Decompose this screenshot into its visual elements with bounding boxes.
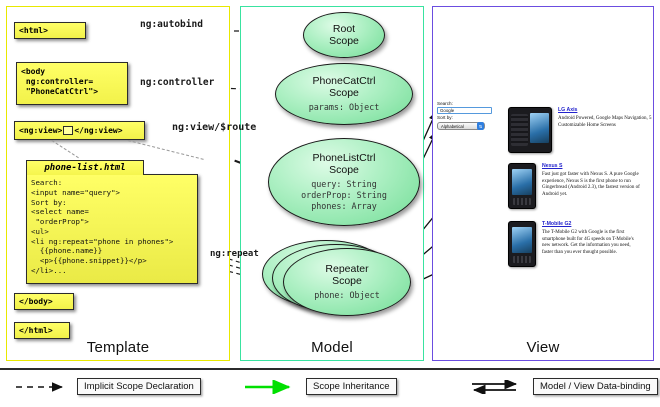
legend-item-implicit-scope: Implicit Scope Declaration (14, 378, 201, 395)
template-file-name: phone-list.html (26, 160, 144, 175)
scope-repeater-title: Repeater Scope (325, 263, 368, 287)
legend-item-scope-inheritance: Scope Inheritance (243, 378, 397, 395)
phone-name-link[interactable]: LG Axis (558, 107, 658, 114)
label-ng-view-route: ng:view/$route (172, 122, 256, 133)
scope-phonelistctrl-title: PhoneListCtrl Scope (312, 152, 375, 176)
label-ng-controller: ng:controller (140, 77, 214, 88)
label-ng-repeat: ng:repeat (210, 249, 259, 259)
panel-model-label: Model (241, 339, 423, 356)
tag-ngview: <ng:view> </ng:view> (14, 121, 145, 140)
scope-root-title: Root Scope (329, 23, 359, 47)
scope-phonecatctrl: PhoneCatCtrl Scope params: Object (275, 63, 413, 125)
phone-thumbnail-icon (508, 163, 536, 209)
phone-description: Android Powered, Google Maps Navigation,… (558, 116, 658, 130)
legend: Implicit Scope Declaration Scope Inherit… (0, 368, 660, 407)
ngview-close-text: </ng:view> (74, 126, 122, 136)
sort-select[interactable]: Alphabetical ⇅ (437, 122, 485, 130)
scope-phonecatctrl-title: PhoneCatCtrl Scope (312, 75, 375, 99)
legend-item-data-binding: Model / View Data-binding (470, 378, 658, 395)
phone-thumbnail-icon (508, 221, 536, 267)
scope-phonecatctrl-props: params: Object (309, 102, 380, 113)
scope-repeater-props: phone: Object (314, 290, 380, 301)
panel-template-label: Template (7, 339, 229, 356)
template-file-callout: phone-list.html Search: <input name="que… (26, 160, 198, 284)
view-controls: Search: Google Sort by: Alphabetical ⇅ (437, 101, 495, 130)
phone-list-item[interactable]: LG Axis Android Powered, Google Maps Nav… (508, 107, 658, 153)
phone-description: Fast just got faster with Nexus S. A pur… (542, 172, 642, 199)
chevron-updown-icon: ⇅ (477, 122, 484, 130)
legend-label: Implicit Scope Declaration (77, 378, 201, 395)
double-arrow-icon (470, 380, 526, 394)
ngview-placeholder-icon (63, 126, 73, 135)
sort-label: Sort by: (437, 115, 495, 121)
phone-name-link[interactable]: Nexus S (542, 163, 642, 170)
phone-list-item[interactable]: T-Mobile G2 The T-Mobile G2 with Google … (508, 221, 642, 267)
legend-label: Scope Inheritance (306, 378, 397, 395)
diagram-canvas: Template <html> <body ng:controller= "Ph… (0, 0, 660, 405)
phone-description: The T-Mobile G2 with Google is the first… (542, 230, 642, 257)
scope-root: Root Scope (303, 12, 385, 58)
label-ng-autobind: ng:autobind (140, 19, 203, 30)
ngview-open-text: <ng:view> (19, 126, 62, 136)
scope-phonelistctrl-props: query: String orderProp: String phones: … (301, 179, 387, 212)
tag-body-open: <body ng:controller= "PhoneCatCtrl"> (16, 62, 128, 105)
tag-html-open: <html> (14, 22, 86, 39)
sort-select-value: Alphabetical (441, 124, 464, 129)
search-input[interactable]: Google (437, 107, 492, 114)
phone-name-link[interactable]: T-Mobile G2 (542, 221, 642, 228)
phone-list-item[interactable]: Nexus S Fast just got faster with Nexus … (508, 163, 642, 209)
scope-repeater: Repeater Scope phone: Object (283, 248, 411, 316)
scope-phonelistctrl: PhoneListCtrl Scope query: String orderP… (268, 138, 420, 226)
panel-view-label: View (433, 339, 653, 356)
template-file-code: Search: <input name="query"> Sort by: <s… (26, 174, 198, 284)
tag-body-close: </body> (14, 293, 74, 310)
legend-label: Model / View Data-binding (533, 378, 658, 395)
tag-html-close: </html> (14, 322, 70, 339)
phone-thumbnail-icon (508, 107, 552, 153)
green-arrow-icon (243, 380, 299, 394)
dashed-arrow-icon (14, 380, 70, 394)
